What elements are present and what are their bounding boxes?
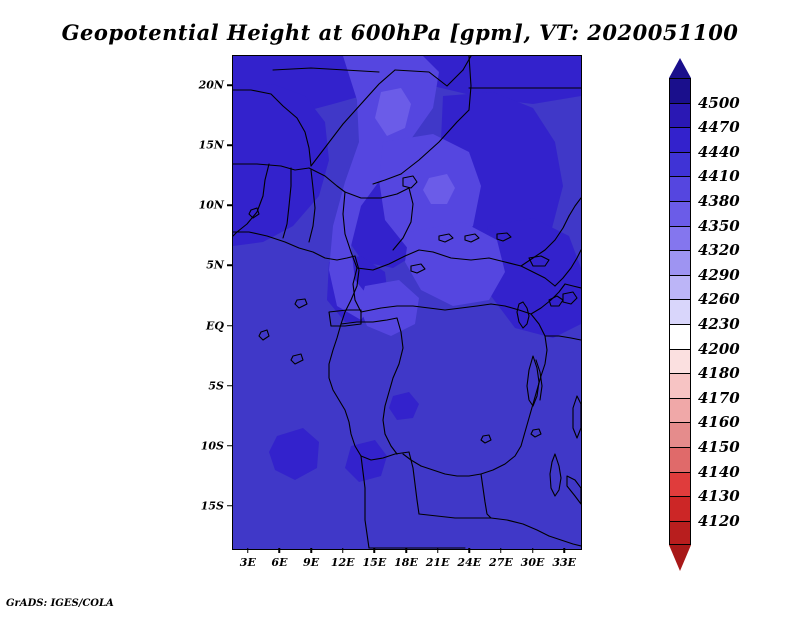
lat-label: 5N — [180, 259, 224, 272]
colorbar-swatch — [669, 176, 691, 201]
lat-label: 15N — [180, 139, 224, 152]
lat-label: 20N — [180, 79, 224, 92]
colorbar-swatch — [669, 447, 691, 472]
colorbar-swatch — [669, 472, 691, 497]
lon-label: 30E — [521, 556, 545, 569]
lat-tick — [227, 144, 232, 146]
map-plot-area — [232, 55, 582, 550]
lat-tick — [227, 265, 232, 267]
colorbar-tick-label: 4410 — [698, 167, 740, 185]
lat-tick — [227, 84, 232, 86]
lon-tick — [532, 548, 534, 553]
lon-label: 18E — [394, 556, 418, 569]
lon-label: 15E — [363, 556, 387, 569]
colorbar-swatch — [669, 373, 691, 398]
lon-label: 24E — [457, 556, 481, 569]
colorbar-tick-label: 4180 — [698, 364, 740, 382]
lon-label: 3E — [240, 556, 256, 569]
lon-label: 6E — [271, 556, 287, 569]
colorbar-tick-label: 4320 — [698, 241, 740, 259]
lon-tick — [469, 548, 471, 553]
lon-tick — [563, 548, 565, 553]
colorbar-swatch — [669, 226, 691, 251]
colorbar-arrow-bottom — [669, 545, 691, 571]
lat-label: 10N — [180, 199, 224, 212]
colorbar-swatch — [669, 127, 691, 152]
colorbar-tick-label: 4200 — [698, 340, 740, 358]
colorbar-swatch — [669, 152, 691, 177]
colorbar-swatch — [669, 324, 691, 349]
page-title: Geopotential Height at 600hPa [gpm], VT:… — [0, 20, 800, 45]
lat-tick — [227, 505, 232, 507]
lat-label: 5S — [180, 379, 224, 392]
lon-tick — [247, 548, 249, 553]
lat-label: 15S — [180, 499, 224, 512]
colorbar-swatch — [669, 398, 691, 423]
lon-label: 12E — [331, 556, 355, 569]
colorbar-tick-label: 4130 — [698, 487, 740, 505]
colorbar-tick-label: 4380 — [698, 192, 740, 210]
lat-tick — [227, 205, 232, 207]
lon-tick — [405, 548, 407, 553]
colorbar-swatch — [669, 201, 691, 226]
colorbar-swatch — [669, 275, 691, 300]
lon-tick — [437, 548, 439, 553]
lon-label: 33E — [552, 556, 576, 569]
colorbar-swatch — [669, 521, 691, 546]
colorbar-tick-label: 4150 — [698, 438, 740, 456]
lon-tick — [342, 548, 344, 553]
colorbar-tick-label: 4440 — [698, 143, 740, 161]
colorbar-tick-label: 4470 — [698, 118, 740, 136]
lat-tick — [227, 385, 232, 387]
lon-tick — [310, 548, 312, 553]
lat-tick — [227, 325, 232, 327]
colorbar-tick-label: 4260 — [698, 290, 740, 308]
lon-label: 27E — [489, 556, 513, 569]
colorbar-swatch — [669, 349, 691, 374]
colorbar-tick-label: 4350 — [698, 217, 740, 235]
colorbar-swatch — [669, 250, 691, 275]
colorbar-swatch — [669, 496, 691, 521]
lat-label: EQ — [180, 319, 224, 332]
colorbar-tick-label: 4140 — [698, 463, 740, 481]
colorbar-swatch — [669, 422, 691, 447]
lon-label: 9E — [303, 556, 319, 569]
colorbar-tick-label: 4230 — [698, 315, 740, 333]
lon-tick — [500, 548, 502, 553]
colorbar-arrow-top — [669, 58, 691, 78]
lat-tick — [227, 445, 232, 447]
lat-label: 10S — [180, 439, 224, 452]
colorbar-tick-label: 4170 — [698, 389, 740, 407]
colorbar-swatch — [669, 103, 691, 128]
lon-tick — [279, 548, 281, 553]
colorbar-swatch — [669, 78, 691, 103]
colorbar-swatch — [669, 299, 691, 324]
lon-tick — [374, 548, 376, 553]
colorbar-tick-label: 4160 — [698, 413, 740, 431]
colorbar-tick-label: 4290 — [698, 266, 740, 284]
lon-label: 21E — [426, 556, 450, 569]
colorbar — [669, 78, 691, 545]
colorbar-tick-label: 4500 — [698, 94, 740, 112]
footer-credit: GrADS: IGES/COLA — [6, 598, 114, 609]
geopotential-height-heatmap — [233, 56, 581, 549]
colorbar-tick-label: 4120 — [698, 512, 740, 530]
